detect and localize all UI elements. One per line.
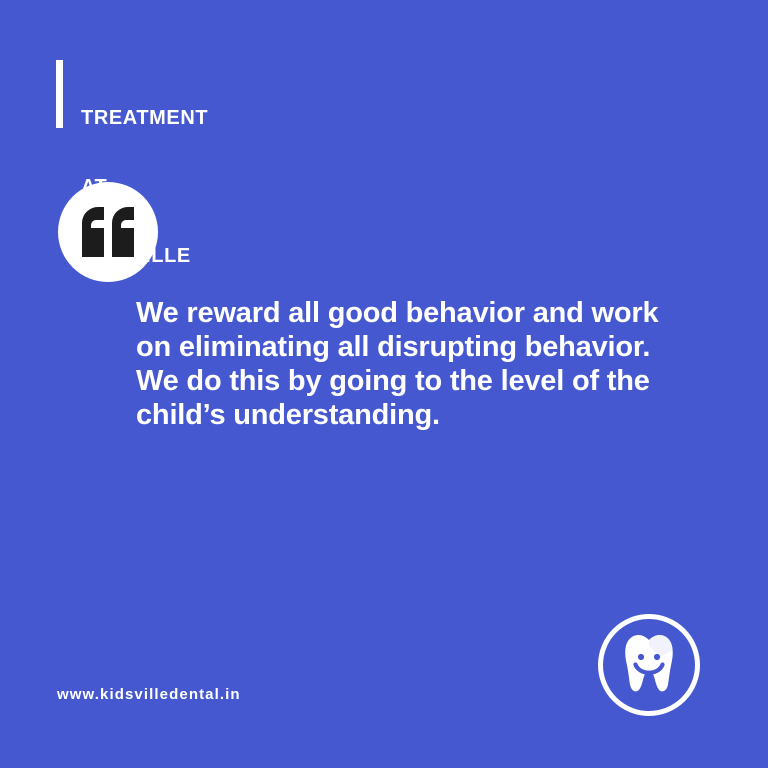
quote-card: TREATMENT AT KIDSVILLE We reward all goo… bbox=[0, 0, 768, 768]
quote-text: We reward all good behavior and work on … bbox=[136, 296, 696, 432]
brand-accent-bar-icon bbox=[56, 60, 63, 128]
quote-badge bbox=[58, 182, 158, 282]
smiling-tooth-logo-icon bbox=[597, 613, 701, 717]
brand-lockup: TREATMENT AT KIDSVILLE bbox=[56, 60, 208, 314]
brand-title-line-1: TREATMENT bbox=[81, 107, 208, 130]
double-quote-icon bbox=[78, 207, 138, 257]
website-url[interactable]: www.kidsvilledental.in bbox=[57, 686, 241, 703]
